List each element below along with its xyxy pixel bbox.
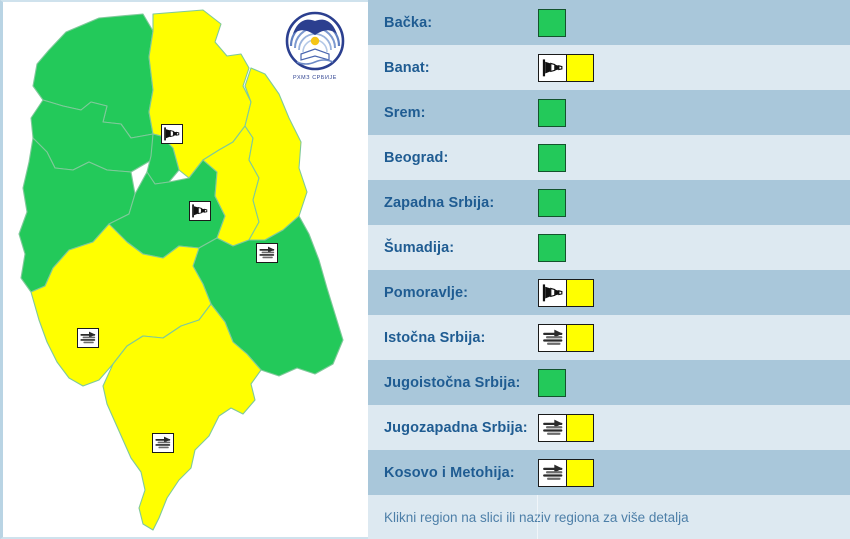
warning-swatch-jugoistocna-srbija bbox=[538, 369, 566, 397]
region-row-istocna-srbija[interactable]: Istočna Srbija: bbox=[368, 315, 850, 360]
fog-icon bbox=[540, 415, 566, 441]
region-row-backa[interactable]: Bačka: bbox=[368, 0, 850, 45]
region-row-pomoravlje[interactable]: Pomoravlje: bbox=[368, 270, 850, 315]
region-label-istocna-srbija[interactable]: Istočna Srbija: bbox=[368, 330, 528, 346]
warning-level-jugoistocna-srbija bbox=[538, 369, 566, 397]
region-row-kosovo-i-metohija[interactable]: Kosovo i Metohija: bbox=[368, 450, 850, 495]
wind-sock-icon bbox=[540, 280, 566, 306]
region-label-kosovo-i-metohija[interactable]: Kosovo i Metohija: bbox=[368, 465, 528, 481]
warning-level-istocna-srbija bbox=[566, 324, 594, 352]
region-row-sumadija[interactable]: Šumadija: bbox=[368, 225, 850, 270]
warning-phenomenon-istocna-srbija bbox=[538, 324, 566, 352]
weather-warning-widget: .rg { stroke:#7fc99a; stroke-width:1.1; … bbox=[0, 0, 850, 539]
fog-icon bbox=[540, 460, 566, 486]
region-label-backa[interactable]: Bačka: bbox=[368, 15, 528, 31]
region-warning-list: Bačka:Banat:Srem:Beograd:Zapadna Srbija:… bbox=[368, 0, 850, 539]
region-label-pomoravlje[interactable]: Pomoravlje: bbox=[368, 285, 528, 301]
warning-swatch-sumadija bbox=[538, 234, 566, 262]
warning-level-beograd bbox=[538, 144, 566, 172]
warning-level-srem bbox=[538, 99, 566, 127]
wind-sock-icon bbox=[162, 125, 182, 143]
region-row-zapadna-srbija[interactable]: Zapadna Srbija: bbox=[368, 180, 850, 225]
warning-phenomenon-banat bbox=[538, 54, 566, 82]
fog-icon bbox=[257, 244, 277, 262]
map-marker-banat[interactable] bbox=[161, 124, 183, 144]
fog-icon bbox=[78, 329, 98, 347]
warning-level-sumadija bbox=[538, 234, 566, 262]
wind-sock-icon bbox=[190, 202, 210, 220]
serbia-warning-map-panel: .rg { stroke:#7fc99a; stroke-width:1.1; … bbox=[0, 0, 368, 539]
warning-swatch-kosovo-i-metohija bbox=[538, 459, 594, 487]
region-label-jugozapadna-srbija[interactable]: Jugozapadna Srbija: bbox=[368, 420, 528, 436]
map-marker-pomoravlje[interactable] bbox=[189, 201, 211, 221]
region-label-beograd[interactable]: Beograd: bbox=[368, 150, 528, 166]
warning-swatch-srem bbox=[538, 99, 566, 127]
warning-swatch-backa bbox=[538, 9, 566, 37]
warning-swatch-zapadna-srbija bbox=[538, 189, 566, 217]
region-label-banat[interactable]: Banat: bbox=[368, 60, 528, 76]
warning-phenomenon-kosovo-i-metohija bbox=[538, 459, 566, 487]
region-row-banat[interactable]: Banat: bbox=[368, 45, 850, 90]
warning-swatch-jugozapadna-srbija bbox=[538, 414, 594, 442]
warning-level-banat bbox=[566, 54, 594, 82]
fog-icon bbox=[153, 434, 173, 452]
map-marker-jugozapadna-srbija[interactable] bbox=[77, 328, 99, 348]
region-row-srem[interactable]: Srem: bbox=[368, 90, 850, 135]
warning-level-kosovo-i-metohija bbox=[566, 459, 594, 487]
serbia-map[interactable]: .rg { stroke:#7fc99a; stroke-width:1.1; … bbox=[3, 2, 368, 537]
region-row-beograd[interactable]: Beograd: bbox=[368, 135, 850, 180]
warning-phenomenon-jugozapadna-srbija bbox=[538, 414, 566, 442]
warning-swatch-banat bbox=[538, 54, 594, 82]
warning-level-zapadna-srbija bbox=[538, 189, 566, 217]
warning-level-backa bbox=[538, 9, 566, 37]
region-row-jugoistocna-srbija[interactable]: Jugoistočna Srbija: bbox=[368, 360, 850, 405]
region-label-sumadija[interactable]: Šumadija: bbox=[368, 240, 528, 256]
map-marker-istocna-srbija[interactable] bbox=[256, 243, 278, 263]
map-marker-kosovo-metohija[interactable] bbox=[152, 433, 174, 453]
warning-level-pomoravlje bbox=[566, 279, 594, 307]
map-hint-note: Klikni region na slici ili naziv regiona… bbox=[368, 495, 850, 539]
warning-phenomenon-pomoravlje bbox=[538, 279, 566, 307]
warning-swatch-beograd bbox=[538, 144, 566, 172]
warning-level-jugozapadna-srbija bbox=[566, 414, 594, 442]
region-label-srem[interactable]: Srem: bbox=[368, 105, 528, 121]
fog-icon bbox=[540, 325, 566, 351]
wind-sock-icon bbox=[540, 55, 566, 81]
region-label-jugoistocna-srbija[interactable]: Jugoistočna Srbija: bbox=[368, 375, 528, 391]
warning-swatch-istocna-srbija bbox=[538, 324, 594, 352]
warning-swatch-pomoravlje bbox=[538, 279, 594, 307]
region-row-jugozapadna-srbija[interactable]: Jugozapadna Srbija: bbox=[368, 405, 850, 450]
region-label-zapadna-srbija[interactable]: Zapadna Srbija: bbox=[368, 195, 528, 211]
